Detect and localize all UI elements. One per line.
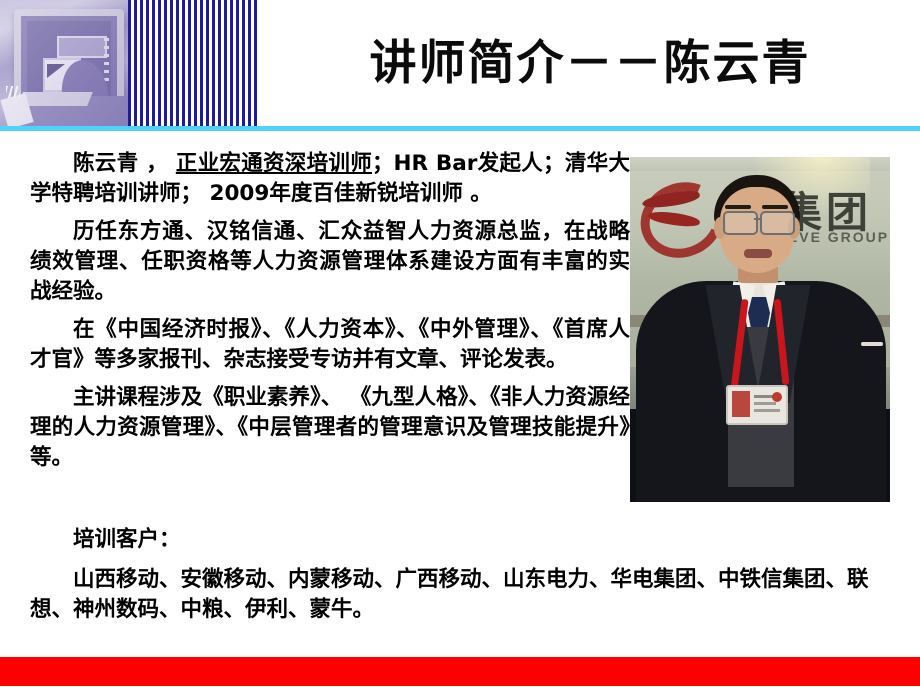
- photo-person: [630, 157, 890, 502]
- badge-photo: [732, 391, 750, 417]
- person-eyebrow-left: [725, 205, 751, 209]
- artwork-overlay-tint: [0, 0, 128, 127]
- biography-text-block: 陈云青 ， 正业宏通资深培训师；HR Bar发起人；清华大学特聘培训讲师； 20…: [30, 149, 630, 481]
- badge-seal-icon: [772, 392, 782, 402]
- paragraph-media: 在《中国经济时报》、《人力资本》、《中外管理》、《首席人才官》等多家报刊、杂志接…: [30, 315, 630, 375]
- person-mouth: [744, 249, 772, 258]
- header-stripe-band: [128, 0, 260, 127]
- clients-list: 山西移动、安徽移动、内蒙移动、广西移动、山东电力、华电集团、中铁信集团、联想、神…: [30, 565, 900, 625]
- footer-red-bar: [0, 657, 920, 686]
- clients-block: 培训客户： 山西移动、安徽移动、内蒙移动、广西移动、山东电力、华电集团、中铁信集…: [30, 525, 900, 635]
- header-decorative-artwork: [0, 0, 128, 127]
- paragraph-intro: 陈云青 ， 正业宏通资深培训师；HR Bar发起人；清华大学特聘培训讲师； 20…: [30, 149, 630, 209]
- eyeglasses-lens-right: [760, 211, 795, 235]
- page-title-text: 讲师简介－－陈云青: [370, 40, 811, 87]
- person-id-badge: [726, 385, 788, 425]
- slide-root: 讲师简介－－陈云青 陈云青 ， 正业宏通资深培训师；HR Bar发起人；清华大学…: [0, 0, 920, 690]
- badge-text-line-2: [754, 402, 776, 405]
- paragraph-intro-lead: 陈云青 ，: [73, 151, 168, 176]
- slide-body: 陈云青 ， 正业宏通资深培训师；HR Bar发起人；清华大学特聘培训讲师； 20…: [0, 131, 920, 657]
- paragraph-experience: 历任东方通、汉铭信通、汇众益智人力资源总监，在战略绩效管理、任职资格等人力资源管…: [30, 217, 630, 307]
- paragraph-courses: 主讲课程涉及《职业素养》、 《九型人格》、《非人力资源经理的人力资源管理》、《中…: [30, 383, 630, 473]
- speaker-photo: 集团 IEVE GROUP: [630, 157, 890, 502]
- person-teeth: [861, 342, 883, 346]
- person-eyebrow-right: [762, 205, 788, 209]
- page-title: 讲师简介－－陈云青: [260, 0, 920, 127]
- badge-text-line-3: [754, 409, 780, 412]
- eyeglasses-lens-left: [723, 211, 758, 235]
- slide-header: 讲师简介－－陈云青: [0, 0, 920, 127]
- paragraph-intro-underlined: 正业宏通资深培训师: [176, 151, 372, 176]
- eyeglasses-bridge: [754, 218, 761, 220]
- clients-heading: 培训客户：: [30, 525, 900, 555]
